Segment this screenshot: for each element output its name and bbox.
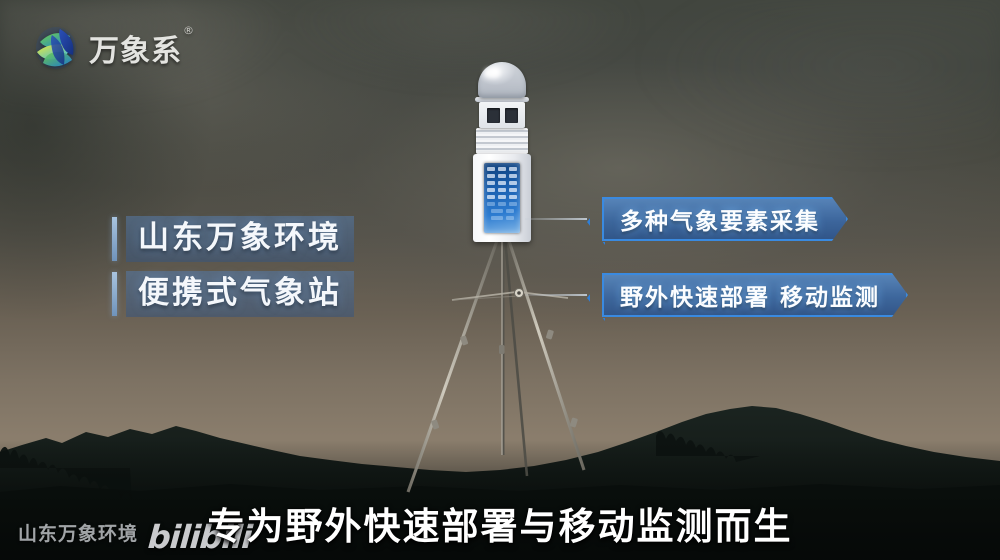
- title-chip-2: 便携式气象站: [126, 271, 354, 317]
- screen-cell: [509, 181, 517, 185]
- radiation-shield-dome-icon: [478, 62, 526, 98]
- subtitle-caption: 专为野外快速部署与移动监测而生: [0, 496, 1000, 550]
- vent-slot: [487, 108, 500, 123]
- title-line-1: 山东万象环境: [112, 216, 354, 262]
- screen-cell: [487, 188, 495, 192]
- ribbed-collar: [476, 128, 528, 154]
- callout-2[interactable]: 野外快速部署 移动监测: [525, 275, 908, 315]
- screen-cell: [509, 167, 517, 171]
- screen-row: [487, 216, 517, 220]
- accent-bar-icon: [112, 272, 117, 316]
- title-text-1: 山东万象环境: [138, 219, 342, 257]
- chevron-left-icon: [587, 199, 602, 239]
- screen-cell: [487, 174, 495, 178]
- callout-1-label: 多种气象要素采集: [620, 202, 820, 236]
- screen-cell: [498, 188, 506, 192]
- callout-leader-line: [525, 218, 587, 220]
- chevron-left-icon: [587, 275, 602, 315]
- screen-cell: [509, 195, 517, 199]
- title-chip-1: 山东万象环境: [126, 216, 354, 262]
- screen-cell: [487, 167, 495, 171]
- screen-cell: [487, 181, 495, 185]
- screen-row: [487, 202, 517, 206]
- screen-row: [487, 181, 517, 185]
- screen-cell: [509, 174, 517, 178]
- screen-cell: [509, 202, 517, 206]
- vent-slot: [505, 108, 518, 123]
- screen-cell: [498, 181, 506, 185]
- lcd-data-screen: [484, 163, 520, 233]
- brand-logo: 万象系 ®: [30, 22, 182, 74]
- screen-cell: [491, 216, 503, 220]
- screen-row: [487, 167, 517, 171]
- title-text-2: 便携式气象站: [138, 274, 342, 312]
- screen-cell: [498, 167, 506, 171]
- screen-row: [487, 195, 517, 199]
- wind-sensor-vent: [479, 102, 525, 128]
- screen-cell: [506, 209, 514, 213]
- portable-weather-station: [471, 62, 533, 242]
- screen-cell: [487, 195, 495, 199]
- logo-wordmark: 万象系 ®: [89, 26, 182, 70]
- screen-row: [487, 188, 517, 192]
- logo-text-value: 万象系: [89, 34, 182, 69]
- callout-2-label: 野外快速部署 移动监测: [620, 278, 880, 312]
- globe-spiral-logo-icon: [30, 22, 82, 74]
- device-body: [473, 154, 531, 242]
- accent-bar-icon: [112, 217, 117, 261]
- screen-cell: [506, 216, 514, 220]
- screen-cell: [509, 188, 517, 192]
- screen-cell: [498, 202, 506, 206]
- screen-cell: [498, 174, 506, 178]
- callout-1[interactable]: 多种气象要素采集: [525, 199, 848, 239]
- screen-cell: [491, 209, 503, 213]
- trademark-symbol: ®: [183, 24, 195, 37]
- callout-leader-line: [525, 294, 587, 296]
- left-title-panel: 山东万象环境 便携式气象站: [112, 216, 354, 326]
- video-frame: 万象系 ® 山东万象环境 便携式气象站: [0, 0, 1000, 560]
- title-line-2: 便携式气象站: [112, 271, 354, 317]
- callout-2-body[interactable]: 野外快速部署 移动监测: [602, 273, 908, 317]
- screen-cell: [487, 202, 495, 206]
- screen-cell: [498, 195, 506, 199]
- screen-row: [487, 209, 517, 213]
- callout-1-body[interactable]: 多种气象要素采集: [602, 197, 848, 241]
- screen-row: [487, 174, 517, 178]
